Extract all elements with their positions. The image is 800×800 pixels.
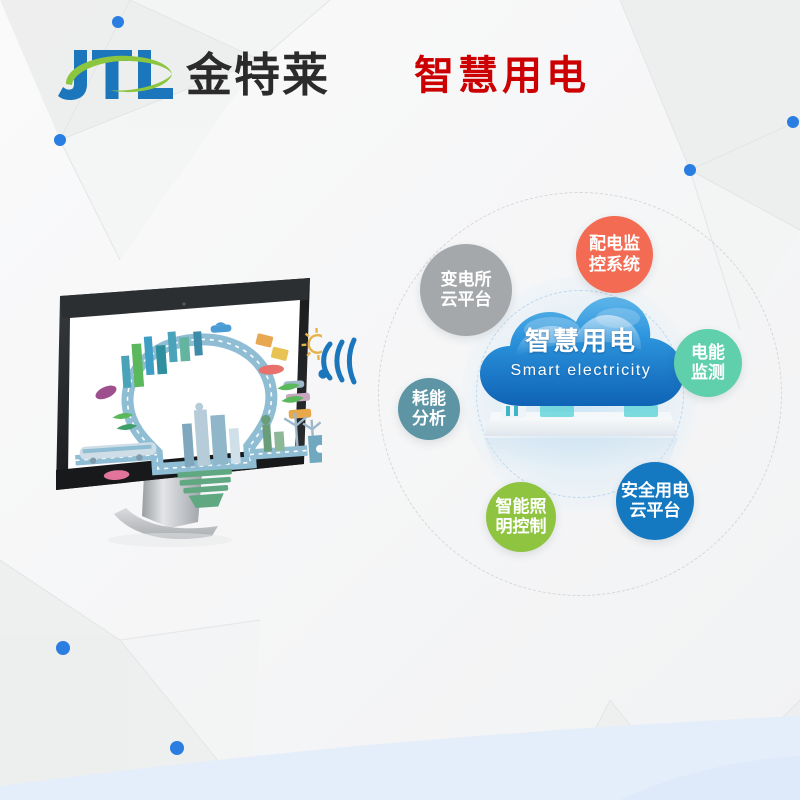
bubble-substation-cloud-platform[interactable]: 变电所 云平台 (420, 244, 512, 336)
smart-electricity-diagram: 智慧用电 Smart electricity 变电所 云平台配电监 控系统电能 … (358, 186, 800, 596)
bubble-label: 变电所 云平台 (441, 270, 492, 310)
brand-name-cn: 金特莱 (186, 47, 330, 103)
jtl-logo-icon (58, 44, 178, 106)
page-title: 智慧用电 (414, 52, 590, 100)
bottom-wave-decoration (0, 660, 800, 800)
bubble-label: 电能 监测 (691, 343, 725, 383)
bubble-safe-electricity-cloud-platform[interactable]: 安全用电 云平台 (616, 462, 694, 540)
bubble-label: 安全用电 云平台 (621, 481, 689, 521)
brand-logo[interactable]: 金特莱 (58, 44, 358, 106)
poster-canvas: 金特莱 智慧用电 (0, 0, 800, 800)
tablet-device-icon (484, 404, 678, 470)
bubble-label: 智能照 明控制 (496, 497, 547, 537)
cloud-icon (480, 297, 684, 406)
desktop-monitor-icon (52, 278, 322, 568)
bubble-energy-consumption-analysis[interactable]: 耗能 分析 (398, 378, 460, 440)
header: 金特莱 智慧用电 (0, 0, 800, 140)
bubble-smart-lighting-control[interactable]: 智能照 明控制 (486, 482, 556, 552)
bubble-power-distribution-monitoring-system[interactable]: 配电监 控系统 (576, 216, 653, 293)
bubble-power-monitoring[interactable]: 电能 监测 (674, 329, 742, 397)
bubble-label: 耗能 分析 (412, 389, 446, 429)
bubble-label: 配电监 控系统 (589, 234, 640, 274)
